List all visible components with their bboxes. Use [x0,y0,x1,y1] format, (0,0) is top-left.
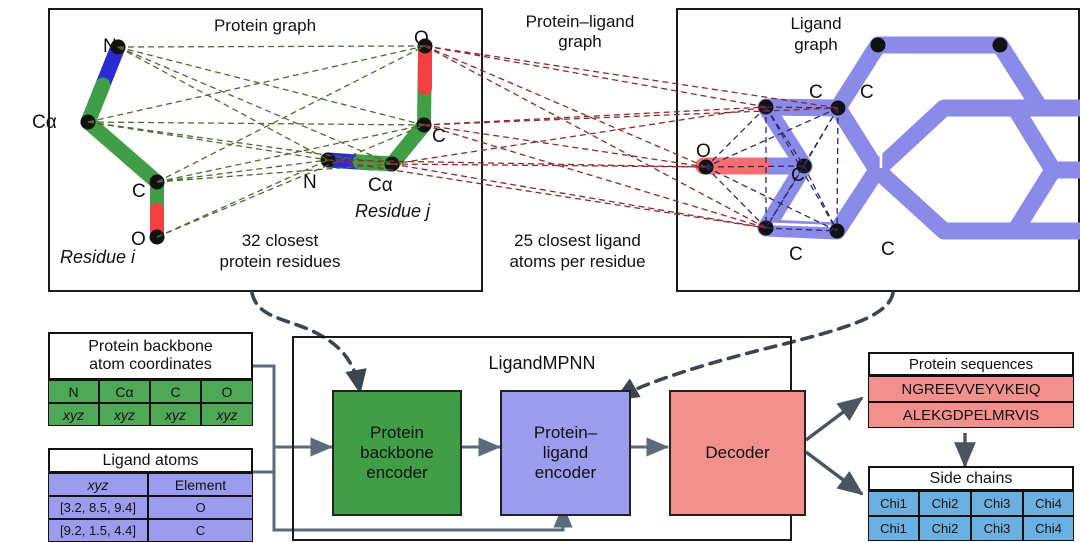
atom-label-i-n: N [103,36,117,57]
atom-label-i-c: C [132,181,146,202]
backbone-table-title: Protein backbone atom coordinates [48,332,253,380]
protein-graph-title: Protein graph [180,16,350,35]
backbone-header-c: C [150,380,201,403]
encoder1-line3: encoder [360,463,434,483]
backbone-value-n: xyz [48,403,99,426]
ligandmpnn-title: LigandMPNN [462,353,622,373]
encoder2-line1: Protein– [534,423,597,443]
sidechain-r1-chi1: Chi1 [868,491,919,516]
encoder1-line1: Protein [360,423,434,443]
backbone-header-ca: Cα [99,380,150,403]
sequence-row-2: ALEKGDPELMRVIS [868,402,1074,428]
ligand-row2-element: C [148,519,253,542]
backbone-header-o: O [201,380,253,403]
decoder-block[interactable]: Decoder [669,390,806,516]
ligand-header-element: Element [148,473,253,496]
protein-ligand-caption-l2: atoms per residue [485,252,670,271]
protein-backbone-encoder-block[interactable]: Protein backbone encoder [332,390,462,516]
sidechain-r1-chi4: Chi4 [1023,491,1074,516]
residue-j-label: Residue j [355,201,430,221]
ligand-atom-label-c2: C [860,82,874,103]
sidechain-r2-chi2: Chi2 [919,516,971,541]
residue-i-label: Residue i [60,247,135,267]
backbone-value-c: xyz [150,403,201,426]
sidechain-r2-chi4: Chi4 [1023,516,1074,541]
sidechain-r1-chi3: Chi3 [971,491,1023,516]
protein-ligand-encoder-block[interactable]: Protein– ligand encoder [500,390,631,516]
ligand-atom-label-c1: C [809,82,823,103]
sidechain-r2-chi1: Chi1 [868,516,919,541]
ligand-atom-label-o: O [696,141,711,162]
atom-label-j-o: O [414,28,429,49]
ligand-table-title: Ligand atoms [48,448,253,473]
backbone-header-n: N [48,380,99,403]
ligand-header-xyz: xyz [48,473,148,496]
backbone-title-l1: Protein backbone [88,338,213,356]
backbone-value-o: xyz [201,403,253,426]
ligand-row1-xyz: [3.2, 8.5, 9.4] [48,496,148,519]
ligand-row1-element: O [148,496,253,519]
atom-label-j-c: C [432,126,446,147]
ligand-row2-xyz: [9.2, 1.5, 4.4] [48,519,148,542]
sidechains-title: Side chains [868,466,1074,491]
protein-ligand-graph-title-l1: Protein–ligand [495,12,665,31]
backbone-title-l2: atom coordinates [89,356,212,374]
encoder1-line2: backbone [360,443,434,463]
atom-label-j-ca: Cα [368,175,393,196]
ligand-atom-label-c4: C [789,244,803,265]
sequence-row-1: NGREEVVEYVKEIQ [868,376,1074,402]
atom-label-j-n: N [303,172,317,193]
protein-graph-caption-l2: protein residues [190,252,370,271]
sidechain-r2-chi3: Chi3 [971,516,1023,541]
encoder2-line2: ligand [534,443,597,463]
ligand-graph-title-l2: graph [746,35,886,54]
ligand-atom-label-c3: C [791,165,805,186]
ligand-graph-title-l1: Ligand [746,14,886,33]
atom-label-i-ca: Cα [32,112,57,133]
sequences-title: Protein sequences [868,352,1074,376]
ligand-atom-label-c5: C [881,239,895,260]
encoder2-line3: encoder [534,463,597,483]
protein-ligand-caption-l1: 25 closest ligand [485,231,670,250]
protein-graph-caption-l1: 32 closest [200,231,360,250]
backbone-value-ca: xyz [99,403,150,426]
sidechain-r1-chi2: Chi2 [919,491,971,516]
protein-ligand-graph-title-l2: graph [495,32,665,51]
figure-root: Protein graph Protein–ligand graph Ligan… [0,0,1080,543]
